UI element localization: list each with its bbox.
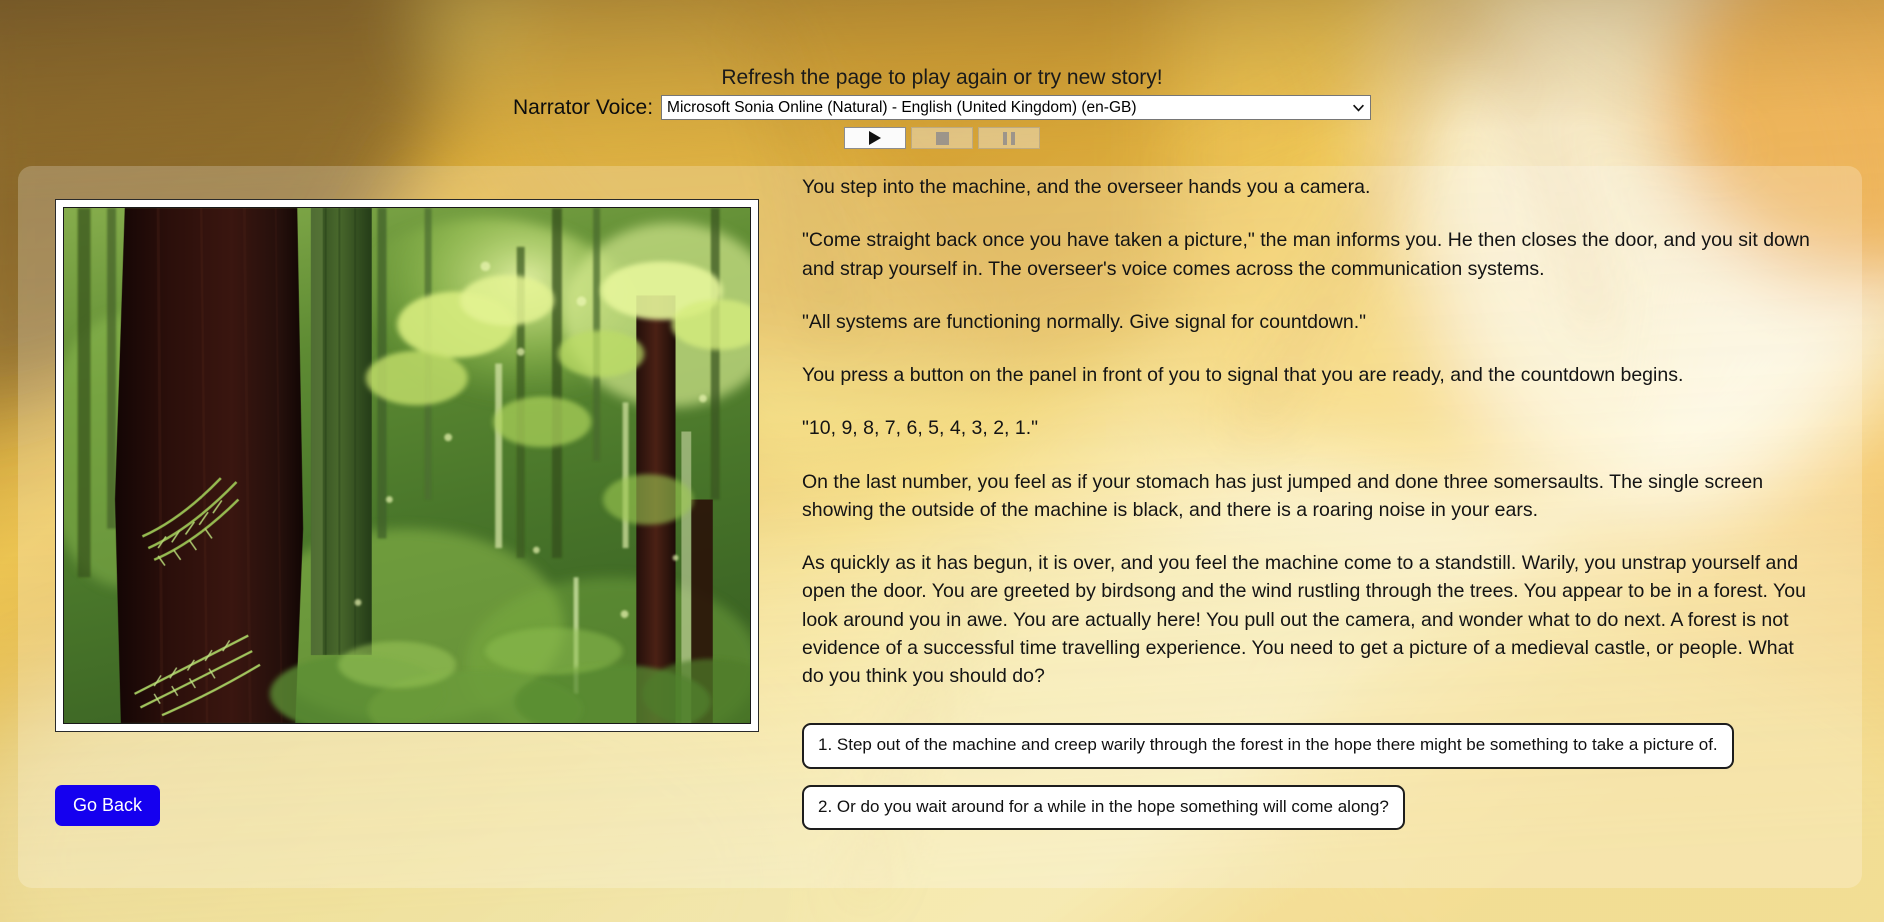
- story-paragraph: "10, 9, 8, 7, 6, 5, 4, 3, 2, 1.": [802, 414, 1813, 442]
- story-paragraph: "Come straight back once you have taken …: [802, 226, 1813, 283]
- refresh-note: Refresh the page to play again or try ne…: [0, 66, 1884, 89]
- story-paragraph: You press a button on the panel in front…: [802, 361, 1813, 389]
- page-header: Refresh the page to play again or try ne…: [0, 0, 1884, 149]
- stop-button[interactable]: [911, 127, 973, 149]
- pause-icon: [1003, 132, 1015, 145]
- scene-image: [63, 207, 751, 724]
- pause-button[interactable]: [978, 127, 1040, 149]
- choice-button-2[interactable]: 2. Or do you wait around for a while in …: [802, 785, 1405, 830]
- story-paragraph: "All systems are functioning normally. G…: [802, 308, 1813, 336]
- choice-button-1[interactable]: 1. Step out of the machine and creep war…: [802, 723, 1734, 768]
- narrator-voice-select-wrapper: Microsoft Sonia Online (Natural) - Engli…: [661, 95, 1371, 120]
- play-icon: [869, 131, 881, 145]
- go-back-button[interactable]: Go Back: [55, 785, 160, 826]
- play-button[interactable]: [844, 127, 906, 149]
- left-column: Go Back: [18, 166, 758, 826]
- scene-image-frame: [55, 199, 759, 732]
- content-area: Go Back You step into the machine, and t…: [18, 166, 1862, 888]
- stop-icon: [936, 132, 949, 145]
- playback-controls: [0, 127, 1884, 149]
- story-paragraph: As quickly as it has begun, it is over, …: [802, 549, 1813, 690]
- story-column: You step into the machine, and the overs…: [758, 166, 1833, 846]
- narrator-voice-select[interactable]: Microsoft Sonia Online (Natural) - Engli…: [661, 95, 1371, 120]
- story-paragraph: On the last number, you feel as if your …: [802, 468, 1813, 525]
- story-paragraph: You step into the machine, and the overs…: [802, 173, 1813, 201]
- narrator-voice-label: Narrator Voice:: [513, 96, 653, 120]
- narrator-voice-row: Narrator Voice: Microsoft Sonia Online (…: [0, 95, 1884, 120]
- choice-list: 1. Step out of the machine and creep war…: [802, 723, 1813, 830]
